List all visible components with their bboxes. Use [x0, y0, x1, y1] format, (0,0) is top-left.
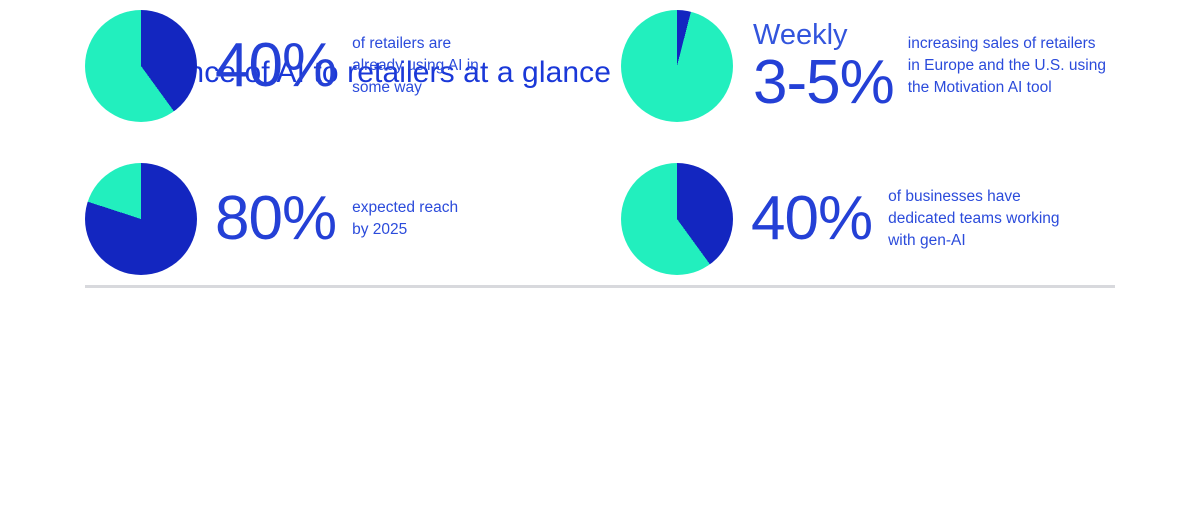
stat-block-weekly-sales-increase: Weekly 3-5% increasing sales of retailer… [621, 10, 1106, 122]
stat-description: of retailers are already using AI in som… [352, 33, 479, 99]
pie-chart-dedicated-gen-ai-teams [621, 163, 733, 275]
stat-description: increasing sales of retailers in Europe … [908, 33, 1106, 99]
stat-value: 80% [215, 190, 336, 249]
infographic-root: Importance of AI to retailers at a glanc… [0, 0, 1200, 528]
stat-value-group: 80% [215, 190, 336, 249]
stat-value: 3-5% [753, 54, 894, 113]
stat-block-dedicated-gen-ai-teams: 40% of businesses have dedicated teams w… [621, 163, 1060, 275]
pie-chart-weekly-sales-increase [621, 10, 733, 122]
stat-block-retailers-using-ai: 40% of retailers are already using AI in… [85, 10, 479, 122]
section-divider [85, 285, 1115, 288]
stat-value: 40% [215, 37, 336, 96]
pie-chart-retailers-using-ai [85, 10, 197, 122]
stat-description: of businesses have dedicated teams worki… [888, 186, 1059, 252]
stat-description: expected reach by 2025 [352, 197, 458, 241]
stat-value-group: Weekly 3-5% [753, 20, 894, 113]
stat-value-group: 40% [215, 37, 336, 96]
stat-value-group: 40% [751, 190, 872, 249]
stat-overline: Weekly [753, 20, 894, 52]
pie-chart-expected-reach-2025 [85, 163, 197, 275]
stat-block-expected-reach-2025: 80% expected reach by 2025 [85, 163, 458, 275]
stat-value: 40% [751, 190, 872, 249]
